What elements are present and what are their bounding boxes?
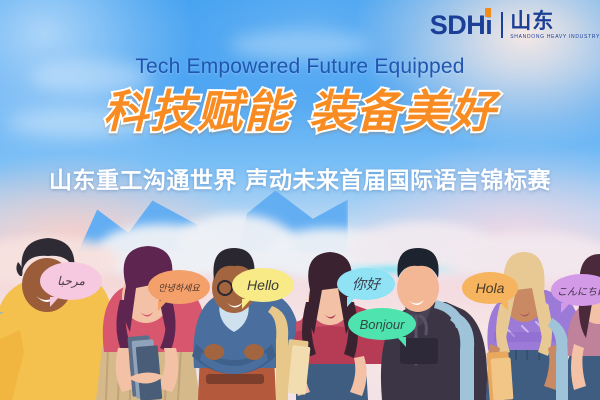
speech-bubble-text: مرحبا	[57, 274, 85, 288]
person-man-yellow-shirt	[0, 238, 116, 400]
speech-bubble-text: Hola	[476, 280, 505, 296]
speech-bubble-text: Hello	[247, 277, 279, 293]
speech-bubble-text: 안녕하세요	[158, 281, 199, 294]
speech-bubble-chinese: 你好	[337, 268, 395, 300]
cloud-bank-2	[176, 214, 296, 276]
english-tagline: Tech Empowered Future Equipped	[0, 55, 600, 79]
brand-logo[interactable]: SDHi 山东 SHANDONG HEAVY INDUSTRY	[430, 8, 600, 42]
speech-bubble-tail	[158, 301, 167, 311]
chinese-subtitle: 山东重工沟通世界 声动未来首届国际语言锦标赛	[0, 161, 600, 195]
speech-bubble-korean: 안녕하세요	[148, 270, 210, 304]
logo-wordmark: SDHi	[430, 12, 493, 39]
speech-bubble-arabic: مرحبا	[40, 262, 102, 300]
speech-bubble-text: Bonjour	[360, 317, 405, 332]
cloud-bank-1	[96, 224, 226, 280]
logo-chinese-text: 山东	[510, 11, 600, 32]
logo-chinese-block: 山东 SHANDONG HEAVY INDUSTRY	[510, 11, 600, 40]
blue-sky-peak-1	[78, 196, 198, 252]
cyan-light-streak-lower	[136, 360, 276, 369]
logo-english-subtext: SHANDONG HEAVY INDUSTRY	[510, 35, 600, 40]
speech-bubble-tail	[242, 299, 251, 309]
speech-bubble-tail	[397, 337, 406, 347]
speech-bubble-text: 你好	[352, 274, 380, 294]
speech-bubble-tail	[499, 301, 508, 311]
blue-sky-peak-2	[238, 188, 348, 252]
person-woman-purple-hair	[96, 246, 205, 400]
speech-bubble-spanish: Hola	[462, 272, 518, 304]
speech-bubble-text: こんにちは	[557, 283, 600, 298]
chinese-headline: 科技赋能 装备美好	[0, 88, 600, 136]
logo-accent-dot	[485, 8, 491, 17]
speech-bubble-tail	[347, 297, 356, 307]
event-banner: SDHi 山东 SHANDONG HEAVY INDUSTRY Tech Emp…	[0, 0, 600, 400]
speech-bubble-english: Hello	[232, 268, 294, 302]
headline-block: Tech Empowered Future Equipped 科技赋能 装备美好…	[0, 55, 600, 195]
speech-bubble-tail	[50, 297, 59, 307]
speech-bubble-tail	[561, 303, 570, 313]
logo-mark-text: SDHi	[430, 10, 493, 40]
speech-bubble-french: Bonjour	[348, 308, 416, 340]
speech-bubble-japanese: こんにちは	[551, 274, 600, 306]
logo-divider	[501, 12, 503, 38]
